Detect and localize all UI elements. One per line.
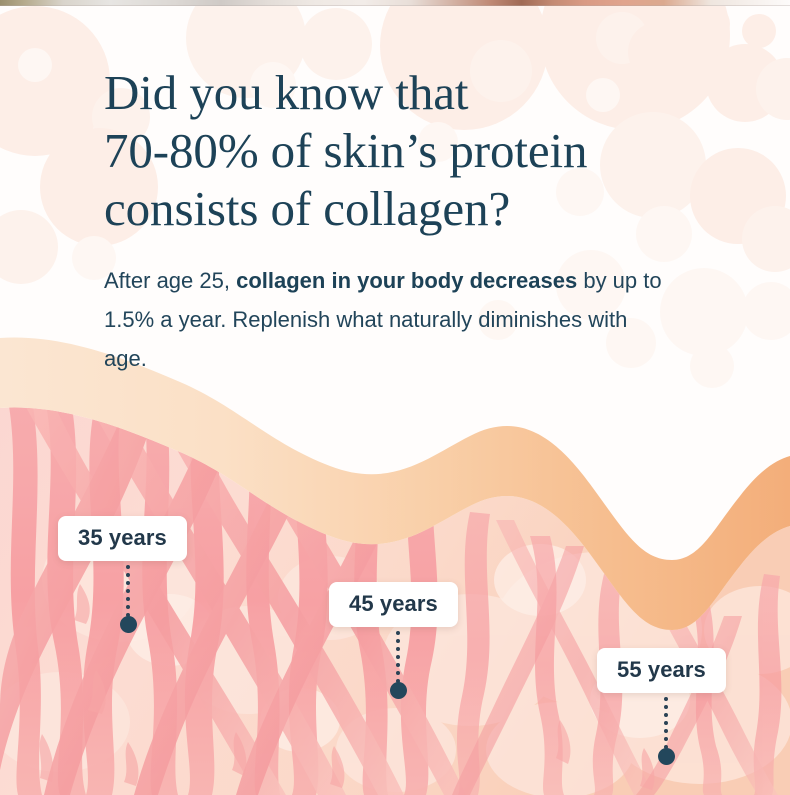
body-text-part1: After age 25,	[104, 268, 236, 293]
infographic-canvas: Did you know that 70-80% of skin’s prote…	[0, 0, 790, 795]
dotted-leader-line	[664, 697, 668, 749]
page-title: Did you know that 70-80% of skin’s prote…	[104, 0, 686, 238]
dotted-leader-line	[126, 565, 130, 617]
skin-cross-section-illustration	[0, 330, 790, 795]
depth-marker-dot	[658, 748, 675, 765]
depth-marker-dot	[390, 682, 407, 699]
age-label-chip[interactable]: 45 years	[329, 582, 458, 627]
body-text-bold: collagen in your body decreases	[236, 268, 577, 293]
photo-strip-divider	[0, 5, 790, 6]
age-label-chip[interactable]: 35 years	[58, 516, 187, 561]
body-paragraph: After age 25, collagen in your body decr…	[104, 238, 674, 378]
age-label-chip[interactable]: 55 years	[597, 648, 726, 693]
text-content: Did you know that 70-80% of skin’s prote…	[0, 0, 790, 378]
dotted-leader-line	[396, 631, 400, 683]
depth-marker-dot	[120, 616, 137, 633]
